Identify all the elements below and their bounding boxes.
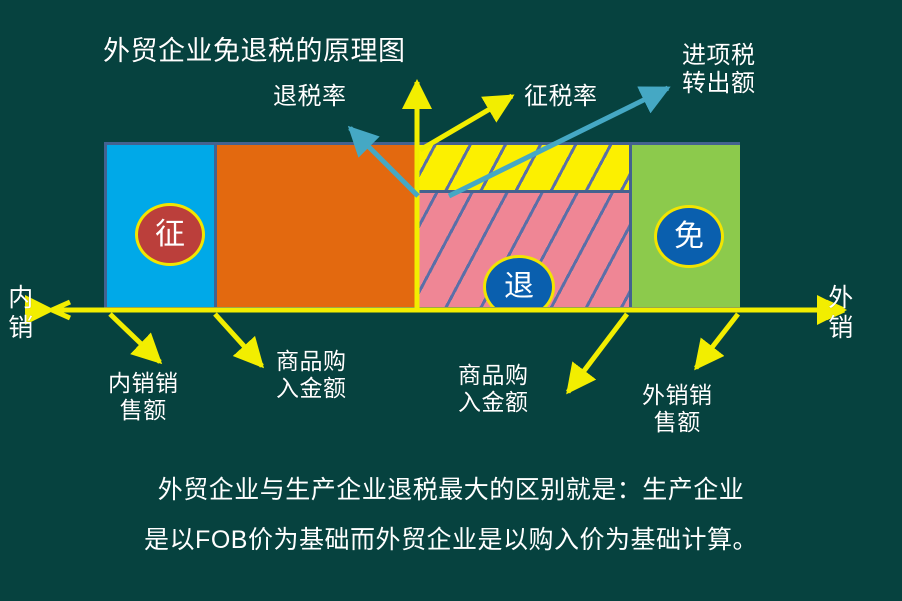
label-foreign-sales: 外销销 售额 [642,382,713,436]
bar-band-purchase-amount-right: 退 [417,193,629,307]
badge-levy-label: 征 [155,220,185,250]
badge-exempt: 免 [654,205,724,268]
bar-segment-purchase-amount-left [217,145,417,307]
label-domestic-sales: 内销销 售额 [108,370,179,424]
bar-segment-foreign-sales: 免 [629,145,740,307]
bar-band-input-tax-transfer [417,145,629,193]
label-input-tax-transfer: 进项税 转出额 [682,42,756,99]
bar-segment-domestic-sales: 征 [107,145,217,307]
bar-segment-refund-group: 退 [417,145,629,307]
badge-levy: 征 [135,203,205,266]
badge-refund-label: 退 [504,272,534,302]
slide-canvas: 征 退 免 [0,0,902,601]
label-refund-rate: 退税率 [273,83,347,111]
label-purchase-right: 商品购 入金额 [458,362,529,416]
arrow-to-foreign-sales [696,314,738,368]
arrow-to-purchase-right [568,314,627,392]
arrow-to-purchase-left [215,314,262,366]
label-axis-domestic: 内 销 [6,284,36,343]
label-purchase-left: 商品购 入金额 [276,348,347,402]
label-tax-rate: 征税率 [524,83,598,111]
arrow-to-domestic-sales [110,314,160,362]
footer-line-2: 是以FOB价为基础而外贸企业是以购入价为基础计算。 [0,520,902,556]
label-axis-foreign: 外 销 [826,284,856,343]
badge-exempt-label: 免 [674,222,704,252]
page-title: 外贸企业免退税的原理图 [103,36,406,68]
footer-line-1: 外贸企业与生产企业退税最大的区别就是：生产企业 [0,470,902,506]
tax-principle-bar-chart: 征 退 免 [104,142,740,310]
hatch-pattern-yellow [417,145,629,193]
